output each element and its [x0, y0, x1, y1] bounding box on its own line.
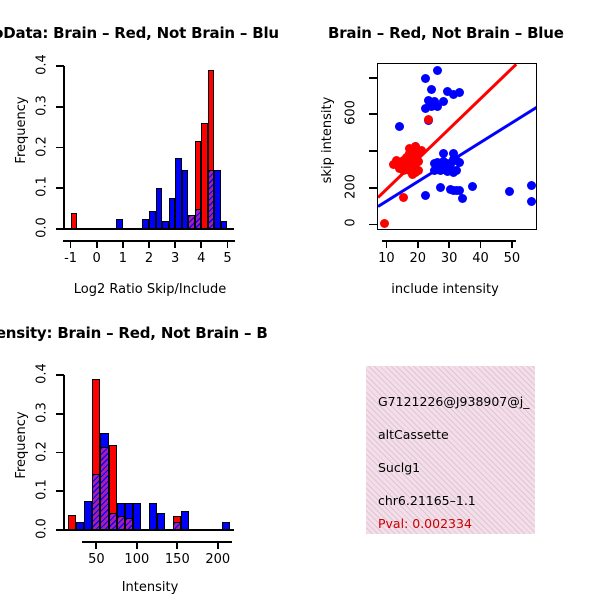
info-line-type: altCassette	[378, 427, 449, 442]
scatter-x-tick	[448, 240, 450, 248]
y-tick-label: 0.2	[35, 436, 50, 466]
scatter-point-not-brain	[527, 197, 536, 206]
y-tick	[56, 187, 64, 189]
scatter-point-not-brain	[458, 194, 467, 203]
x-tick-label: 5	[207, 251, 247, 266]
intensity-histogram-title: ne Itensity: Brain – Red, Not Brain – B	[0, 324, 268, 342]
scatter-point-not-brain	[455, 158, 464, 167]
x-tick	[136, 541, 138, 549]
scatter-point-brain	[380, 219, 389, 228]
scatter-point-not-brain	[421, 191, 430, 200]
x-tick	[148, 240, 150, 248]
scatter-ylabel: skip intensity	[320, 85, 335, 195]
y-tick-label: 0.3	[35, 90, 50, 120]
y-tick	[56, 228, 64, 230]
scatter-y-tick-label: 200	[344, 170, 359, 202]
scatter-y-tick	[369, 150, 377, 152]
histogram-bar-not-brain	[157, 513, 165, 530]
scatter-y-tick-label: 600	[344, 97, 359, 129]
y-tick	[56, 65, 64, 67]
histogram-bar-overlap	[109, 513, 117, 530]
scatter-point-not-brain	[430, 166, 439, 175]
y-tick-label: 0.3	[35, 397, 50, 427]
histogram-bar-not-brain	[142, 219, 149, 229]
x-tick	[200, 240, 202, 248]
scatter-x-tick-label: 50	[492, 251, 532, 266]
intensity-histogram-ylabel: Frequency	[14, 395, 29, 495]
histogram-bar-overlap	[208, 170, 215, 229]
scatter-point-not-brain	[421, 74, 430, 83]
scatter-point-brain	[408, 170, 417, 179]
y-tick-label: 0.1	[35, 475, 50, 505]
scatter-xlabel: include intensity	[355, 282, 535, 297]
scatter-y-tick	[369, 77, 377, 79]
y-tick-label: 0.2	[35, 131, 50, 161]
ratio-histogram-xlabel: Log2 Ratio Skip/Include	[60, 282, 240, 297]
x-tick	[174, 240, 176, 248]
scatter-x-tick	[386, 240, 388, 248]
x-tick	[227, 240, 229, 248]
x-tick-label: 200	[198, 552, 238, 567]
scatter-panel: Brain – Red, Not Brain – Blue skip inten…	[300, 0, 600, 300]
x-tick	[95, 541, 97, 549]
x-tick	[176, 541, 178, 549]
histogram-bar-brain	[68, 515, 76, 531]
scatter-x-tick	[511, 240, 513, 248]
x-tick-label: 150	[157, 552, 197, 567]
ratio-histogram-ylabel: Frequency	[14, 85, 29, 175]
scatter-title: Brain – Red, Not Brain – Blue	[328, 24, 564, 42]
x-axis-line	[82, 541, 231, 543]
intensity-plot-area: 0.00.10.20.30.450100150200	[64, 375, 234, 530]
histogram-bar-not-brain	[76, 522, 84, 530]
intensity-histogram-xlabel: Intensity	[70, 580, 230, 595]
info-line-pval: Pval: 0.002334	[378, 516, 472, 531]
scatter-y-tick	[369, 224, 377, 226]
scatter-point-brain	[399, 193, 408, 202]
histogram-bar-overlap	[125, 518, 133, 530]
scatter-y-tick	[369, 187, 377, 189]
scatter-point-not-brain	[449, 90, 458, 99]
histogram-bar-not-brain	[133, 503, 141, 530]
scatter-point-not-brain	[433, 102, 442, 111]
info-line-locus: chr6.21165–1.1	[378, 493, 476, 508]
histogram-bar-overlap	[92, 474, 100, 530]
intensity-histogram-panel: ne Itensity: Brain – Red, Not Brain – B …	[0, 300, 300, 600]
y-tick	[56, 452, 64, 454]
y-tick	[56, 529, 64, 531]
y-tick-label: 0.0	[35, 514, 50, 544]
x-tick-label: 50	[76, 552, 116, 567]
scatter-point-not-brain	[433, 66, 442, 75]
x-tick-label: 100	[117, 552, 157, 567]
y-tick-label: 0.4	[35, 359, 50, 389]
y-tick	[56, 106, 64, 108]
histogram-bar-overlap	[188, 215, 195, 229]
histogram-bar-not-brain	[222, 522, 230, 530]
x-tick	[70, 240, 72, 248]
x-tick	[122, 240, 124, 248]
ratio-histogram-panel: RatioData: Brain – Red, Not Brain – Blu …	[0, 0, 300, 300]
histogram-bar-brain	[71, 213, 78, 229]
scatter-point-brain	[408, 148, 417, 157]
info-line-id: G7121226@J938907@j_	[378, 394, 529, 409]
y-tick-label: 0.1	[35, 172, 50, 202]
histogram-bar-not-brain	[116, 219, 123, 229]
scatter-x-tick	[417, 240, 419, 248]
scatter-point-not-brain	[439, 149, 448, 158]
scatter-point-not-brain	[395, 122, 404, 131]
histogram-bar-not-brain	[162, 221, 169, 229]
scatter-point-brain	[414, 157, 423, 166]
histogram-bar-not-brain	[175, 158, 182, 229]
scatter-y-tick-label: 0	[344, 207, 359, 239]
x-tick	[217, 541, 219, 549]
histogram-bar-brain	[201, 123, 208, 229]
scatter-point-not-brain	[436, 183, 445, 192]
y-tick	[56, 490, 64, 492]
scatter-y-tick	[369, 113, 377, 115]
y-tick-label: 0.0	[35, 213, 50, 243]
scatter-plot-area	[377, 63, 537, 230]
scatter-point-not-brain	[468, 182, 477, 191]
y-tick	[56, 374, 64, 376]
x-tick	[96, 240, 98, 248]
scatter-point-not-brain	[527, 181, 536, 190]
ratio-histogram-title: RatioData: Brain – Red, Not Brain – Blu	[0, 24, 279, 42]
histogram-bar-not-brain	[214, 170, 221, 229]
histogram-bar-not-brain	[221, 221, 228, 229]
scatter-point-not-brain	[427, 85, 436, 94]
scatter-point-brain	[402, 158, 411, 167]
y-tick	[56, 413, 64, 415]
histogram-bar-not-brain	[181, 511, 189, 530]
info-line-gene: Suclg1	[378, 460, 420, 475]
scatter-point-not-brain	[505, 187, 514, 196]
histogram-bar-overlap	[100, 447, 108, 530]
histogram-bar-overlap	[195, 209, 202, 229]
histogram-bar-overlap	[173, 522, 181, 530]
y-tick	[56, 147, 64, 149]
annotation-info-box: G7121226@J938907@j_ altCassette Suclg1 c…	[366, 366, 535, 534]
y-tick-label: 0.4	[35, 50, 50, 80]
histogram-bar-not-brain	[149, 503, 157, 530]
histogram-bar-overlap	[117, 516, 125, 530]
ratio-plot-area: 0.00.10.20.30.4-1012345	[64, 66, 234, 229]
histogram-bar-not-brain	[84, 501, 92, 530]
scatter-x-tick	[480, 240, 482, 248]
